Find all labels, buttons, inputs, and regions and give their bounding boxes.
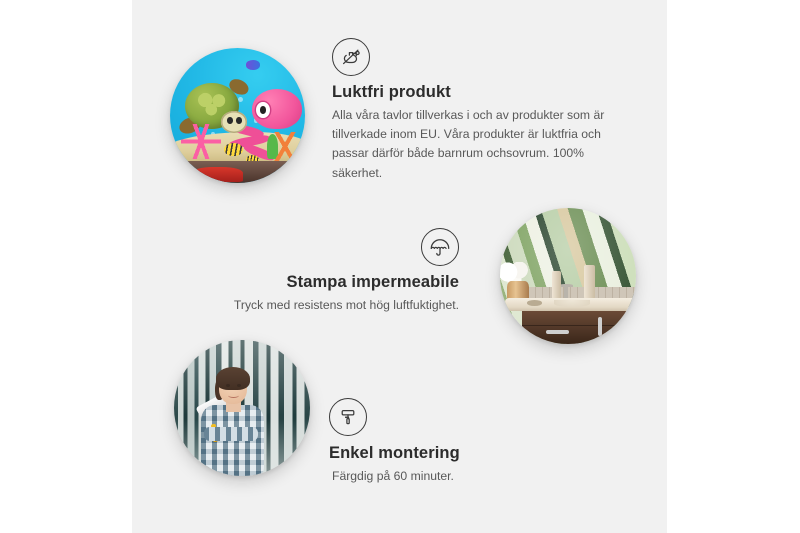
feature-block-easy-mounting: Enkel montering Färgdig på 60 minuter. — [329, 398, 589, 486]
cabinet-handle — [546, 330, 569, 334]
soap-dish — [527, 300, 542, 305]
woman-with-paint-roller-photo — [174, 340, 310, 476]
feature-block-waterproof: Stampa impermeabile Tryck med resistens … — [200, 228, 459, 315]
wood-cabinet — [522, 311, 636, 344]
feature-title: Luktfri produkt — [332, 83, 632, 103]
yellow-fish-icon — [224, 143, 243, 157]
feature-block-odorless: Luktfri produkt Alla våra tavlor tillver… — [332, 38, 632, 183]
feature-body: Tryck med resistens mot hög luftfuktighe… — [200, 296, 459, 315]
bathroom-vanity-photo — [500, 208, 636, 344]
feature-title: Stampa impermeabile — [200, 273, 459, 293]
orange-coral — [270, 132, 300, 162]
purple-fish-icon — [246, 60, 261, 69]
cabinet-handle — [598, 317, 602, 336]
turtle-head — [221, 111, 247, 133]
octopus-eye — [256, 102, 270, 118]
pink-coral — [181, 124, 222, 159]
feature-body: Färgdig på 60 minuter. — [332, 467, 589, 486]
crossed-arms — [204, 427, 258, 441]
promo-banner: Luktfri produkt Alla våra tavlor tillver… — [0, 0, 800, 533]
toiletry-bottle — [552, 271, 562, 300]
icon-row — [329, 398, 589, 436]
toiletry-bottle — [584, 265, 595, 299]
icon-row — [200, 228, 459, 266]
no-odor-perfume-bottle-icon — [332, 38, 370, 76]
underwater-kids-scene-photo — [170, 48, 305, 183]
plaid-shirt-torso — [201, 405, 264, 476]
hair — [216, 367, 250, 390]
foreground-floor — [170, 161, 305, 183]
paint-roller-icon — [329, 398, 367, 436]
icon-row — [332, 38, 632, 76]
eye — [237, 384, 241, 387]
umbrella-icon — [421, 228, 459, 266]
feature-body: Alla våra tavlor tillverkas i och av pro… — [332, 106, 632, 183]
feature-title: Enkel montering — [329, 444, 589, 464]
cabinet-seam — [522, 325, 636, 327]
eye — [226, 384, 230, 387]
